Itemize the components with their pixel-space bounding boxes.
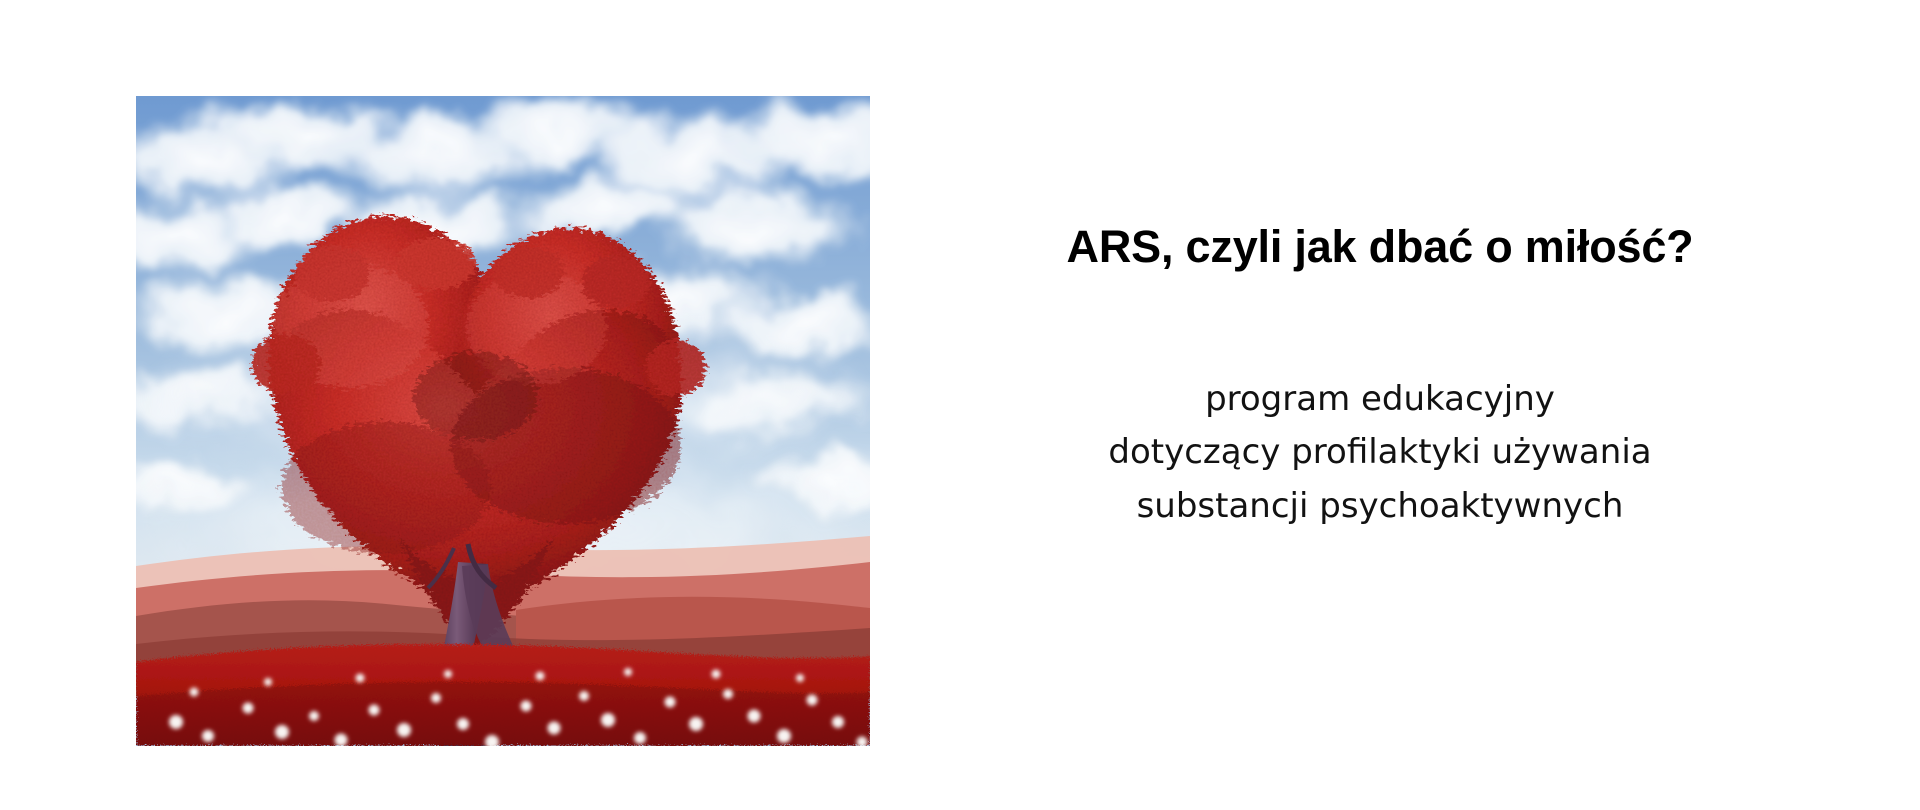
subtitle-block: program edukacyjny dotyczący profilaktyk… <box>900 273 1860 534</box>
slide-root: ARS, czyli jak dbać o miłość? program ed… <box>0 0 1920 810</box>
text-column: ARS, czyli jak dbać o miłość? program ed… <box>900 96 1860 746</box>
heart-tree-illustration <box>136 96 870 746</box>
subtitle-line-3: substancji psychoaktywnych <box>900 480 1860 534</box>
subtitle-line-1: program edukacyjny <box>900 373 1860 427</box>
subtitle-line-2: dotyczący profilaktyki używania <box>900 426 1860 480</box>
page-title: ARS, czyli jak dbać o miłość? <box>900 96 1860 273</box>
heart-tree-image <box>136 96 870 746</box>
